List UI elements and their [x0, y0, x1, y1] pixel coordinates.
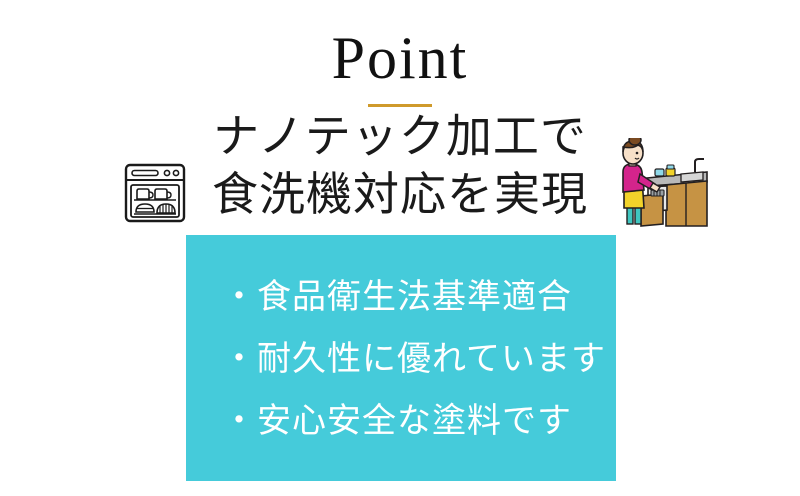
list-item: ・耐久性に優れています — [222, 328, 602, 390]
promo-graphic: Point ナノテック加工で 食洗機対応を実現 — [0, 0, 800, 496]
page-title: Point — [0, 24, 800, 92]
woman-at-kitchen-sink-illustration — [611, 138, 709, 234]
list-item: ・安心安全な塗料です — [222, 390, 602, 452]
dishwasher-icon — [124, 163, 186, 223]
feature-list: ・食品衛生法基準適合 ・耐久性に優れています ・安心安全な塗料です — [222, 266, 602, 452]
title-divider — [368, 104, 432, 107]
list-item: ・食品衛生法基準適合 — [222, 266, 602, 328]
